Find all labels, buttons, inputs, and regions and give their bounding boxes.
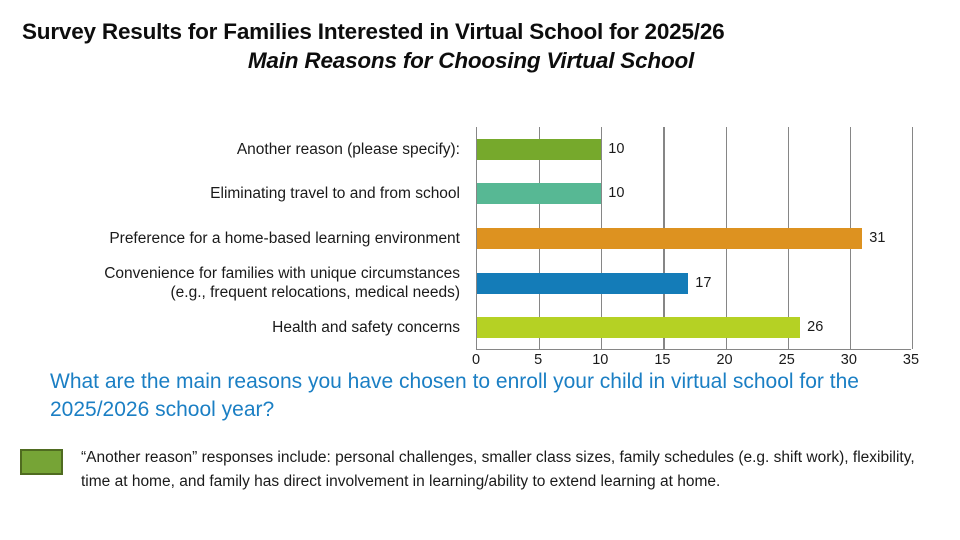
footnote-block: “Another reason” responses include: pers… xyxy=(20,446,940,493)
x-tick-label: 35 xyxy=(903,352,919,368)
footnote-color-swatch xyxy=(20,449,63,475)
category-axis-labels: Another reason (please specify):Eliminat… xyxy=(0,118,468,342)
x-tick-label: 25 xyxy=(779,352,795,368)
bar-value-label: 17 xyxy=(695,273,711,294)
bar-value-label: 26 xyxy=(807,317,823,338)
category-label: Eliminating travel to and from school xyxy=(210,184,460,203)
x-tick-label: 5 xyxy=(534,352,542,368)
bar xyxy=(477,183,601,204)
category-label-line: Convenience for families with unique cir… xyxy=(104,264,460,283)
bar xyxy=(477,139,601,160)
x-tick-label: 10 xyxy=(592,352,608,368)
category-label: Another reason (please specify): xyxy=(237,140,460,159)
bar-value-label: 31 xyxy=(869,228,885,249)
bar xyxy=(477,228,862,249)
category-label-line: (e.g., frequent relocations, medical nee… xyxy=(104,283,460,302)
category-label: Preference for a home-based learning env… xyxy=(109,229,460,248)
plot-area: 1010311726 xyxy=(476,127,911,350)
category-label-line: Eliminating travel to and from school xyxy=(210,184,460,203)
x-tick-label: 30 xyxy=(841,352,857,368)
survey-question-text: What are the main reasons you have chose… xyxy=(50,368,940,424)
category-label: Health and safety concerns xyxy=(272,318,460,337)
bar-value-label: 10 xyxy=(608,183,624,204)
x-tick-label: 0 xyxy=(472,352,480,368)
slide-title-block: Survey Results for Families Interested i… xyxy=(0,18,960,76)
bar-chart: Another reason (please specify):Eliminat… xyxy=(0,118,960,366)
gridline xyxy=(912,127,913,349)
category-label-line: Another reason (please specify): xyxy=(237,140,460,159)
x-tick-label: 15 xyxy=(654,352,670,368)
bar xyxy=(477,317,800,338)
page-title-line-2: Main Reasons for Choosing Virtual School xyxy=(0,46,960,76)
bar xyxy=(477,273,688,294)
x-tick-label: 20 xyxy=(716,352,732,368)
category-label: Convenience for families with unique cir… xyxy=(104,264,460,302)
page-title-line-1: Survey Results for Families Interested i… xyxy=(0,18,960,46)
bar-value-label: 10 xyxy=(608,139,624,160)
footnote-text: “Another reason” responses include: pers… xyxy=(81,446,926,493)
category-label-line: Health and safety concerns xyxy=(272,318,460,337)
category-label-line: Preference for a home-based learning env… xyxy=(109,229,460,248)
